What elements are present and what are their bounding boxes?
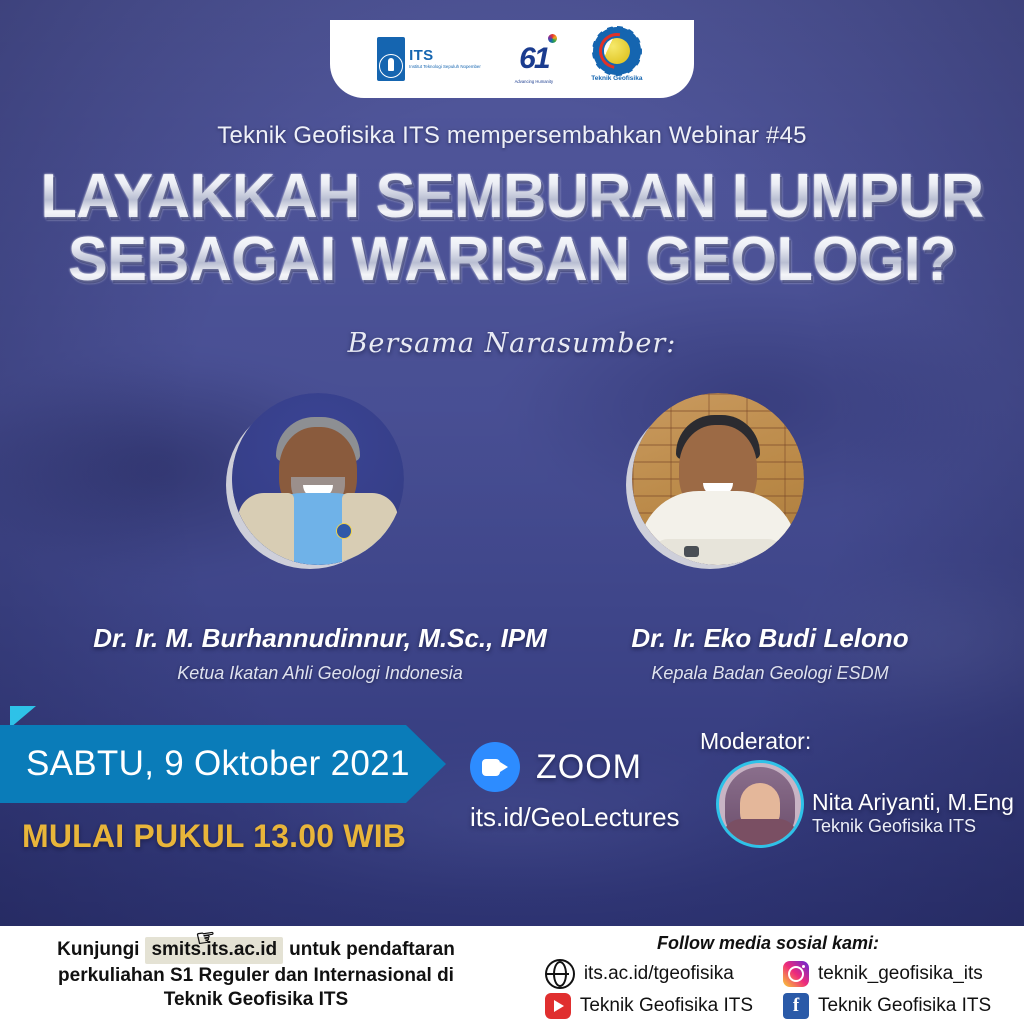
webinar-poster: ITS Institut Teknologi Sepuluh Nopember … <box>0 0 1024 1024</box>
gear-globe-icon <box>596 30 638 72</box>
event-time: MULAI PUKUL 13.00 WIB <box>22 818 406 855</box>
ribbon-corner-tab <box>10 706 36 728</box>
speaker-2-photo <box>632 393 804 565</box>
moderator-affiliation: Teknik Geofisika ITS <box>812 816 976 837</box>
visit-line-2: perkuliahan S1 Reguler dan Internasional… <box>58 964 454 989</box>
speakers-intro: Bersama Narasumber: <box>0 328 1024 359</box>
social-instagram[interactable]: teknik_geofisika_its <box>783 959 991 989</box>
visit-suffix: untuk pendaftaran <box>289 938 455 963</box>
platform-label: ZOOM <box>536 748 642 787</box>
globe-icon <box>545 959 575 989</box>
follow-label: Follow media sosial kami: <box>657 933 879 954</box>
logo-bar: ITS Institut Teknologi Sepuluh Nopember … <box>330 20 694 98</box>
its-acronym: ITS <box>409 48 481 63</box>
youtube-handle: Teknik Geofisika ITS <box>580 995 753 1017</box>
title-line-1: LAYAKKAH SEMBURAN LUMPUR <box>20 165 1003 228</box>
title-line-2: SEBAGAI WARISAN GEOLOGI? <box>20 228 1003 291</box>
social-youtube[interactable]: Teknik Geofisika ITS <box>545 993 753 1019</box>
instagram-icon <box>783 961 809 987</box>
visit-prefix: Kunjungi <box>57 938 139 963</box>
anniversary-dot-icon <box>548 34 557 43</box>
website-handle: its.ac.id/tgeofisika <box>584 963 734 985</box>
youtube-icon <box>545 993 571 1019</box>
footer-registration-info: ☞ Kunjungi smits.its.ac.id untuk pendaft… <box>0 926 512 1024</box>
visit-line-3: Teknik Geofisika ITS <box>164 988 348 1013</box>
its-61-anniversary-logo: 61 Advancing Humanity <box>507 33 561 85</box>
registration-link[interactable]: its.id/GeoLectures <box>470 802 680 833</box>
page-title: LAYAKKAH SEMBURAN LUMPUR SEBAGAI WARISAN… <box>20 165 1003 291</box>
background-vignette <box>0 0 1024 1024</box>
date-ribbon: SABTU, 9 Oktober 2021 <box>0 725 446 803</box>
speaker-1-name: Dr. Ir. M. Burhannudinnur, M.Sc., IPM <box>60 623 580 654</box>
social-facebook[interactable]: f Teknik Geofisika ITS <box>783 993 991 1019</box>
its-subtitle: Institut Teknologi Sepuluh Nopember <box>409 64 481 70</box>
instagram-handle: teknik_geofisika_its <box>818 963 983 985</box>
speaker-1-role: Ketua Ikatan Ahli Geologi Indonesia <box>60 663 580 684</box>
moderator-avatar <box>716 760 804 848</box>
zoom-video-icon <box>470 742 520 792</box>
facebook-handle: Teknik Geofisika ITS <box>818 995 991 1017</box>
its-emblem-icon <box>377 37 405 81</box>
its-logo: ITS Institut Teknologi Sepuluh Nopember <box>377 37 481 81</box>
moderator-label: Moderator: <box>700 728 811 755</box>
speaker-2-name: Dr. Ir. Eko Budi Lelono <box>540 623 1000 654</box>
speaker-2-role: Kepala Badan Geologi ESDM <box>540 663 1000 684</box>
moderator-name: Nita Ariyanti, M.Eng <box>812 789 1014 816</box>
platform-row: ZOOM <box>470 742 642 792</box>
pointing-hand-icon: ☞ <box>194 923 218 954</box>
footer: ☞ Kunjungi smits.its.ac.id untuk pendaft… <box>0 926 1024 1024</box>
facebook-icon: f <box>783 993 809 1019</box>
anniversary-number: 61 <box>519 44 548 74</box>
geofisika-caption: Teknik Geofisika <box>591 75 642 82</box>
presents-line: Teknik Geofisika ITS mempersembahkan Web… <box>0 122 1024 150</box>
teknik-geofisika-logo: Teknik Geofisika <box>587 30 647 88</box>
social-website[interactable]: its.ac.id/tgeofisika <box>545 959 753 989</box>
speaker-1-photo <box>232 393 404 565</box>
footer-social-section: Follow media sosial kami: its.ac.id/tgeo… <box>512 926 1024 1024</box>
anniversary-tagline: Advancing Humanity <box>507 79 561 84</box>
event-date: SABTU, 9 Oktober 2021 <box>0 744 410 784</box>
